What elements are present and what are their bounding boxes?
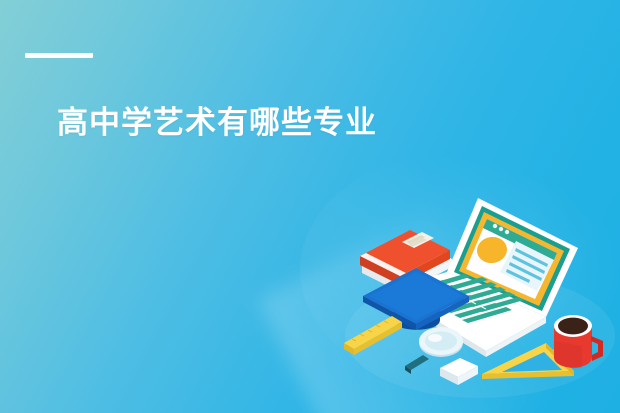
illustration-study-desk	[330, 186, 620, 413]
accent-rule	[25, 53, 93, 58]
page-title: 高中学艺术有哪些专业	[57, 103, 377, 143]
cover-card: 高中学艺术有哪些专业	[0, 0, 620, 413]
